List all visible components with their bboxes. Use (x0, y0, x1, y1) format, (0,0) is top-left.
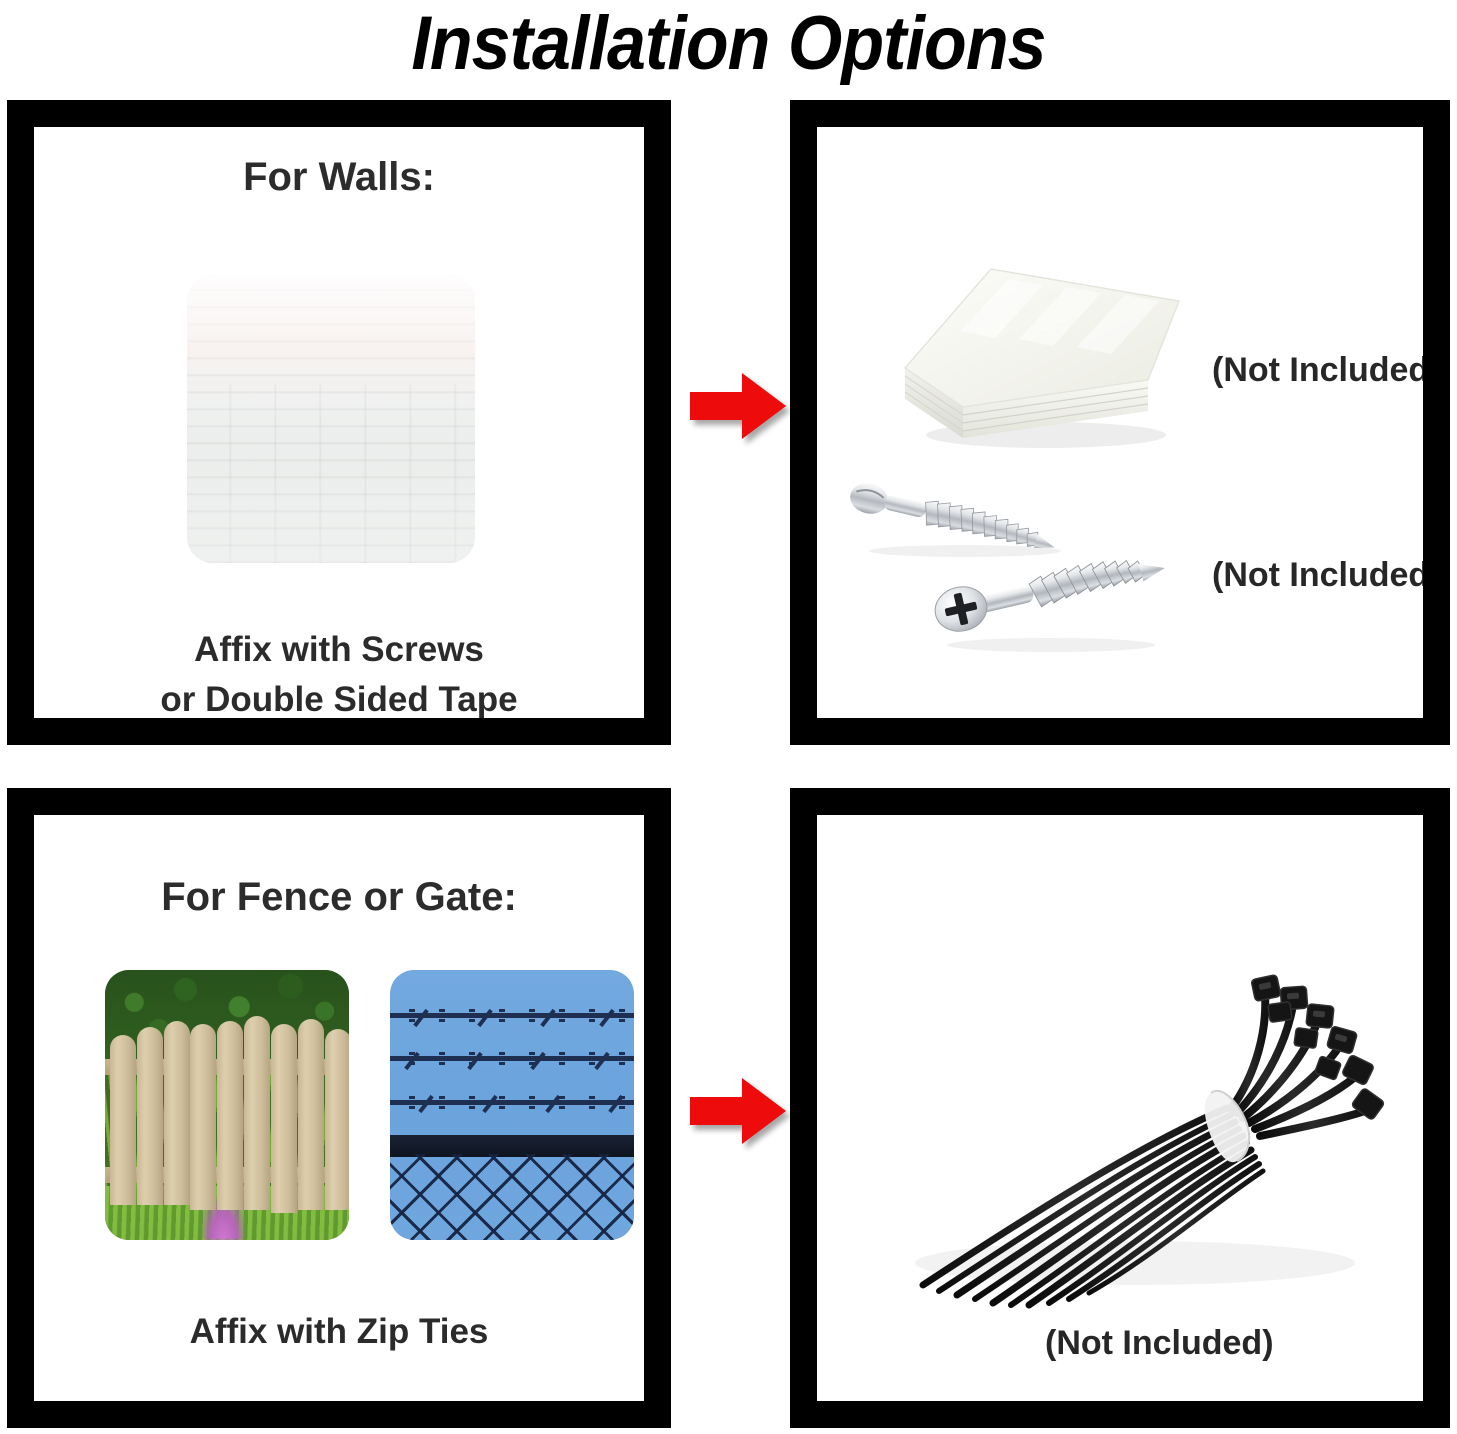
caption-line-1: Affix with Zip Ties (34, 1307, 644, 1357)
panel-for-walls-caption: Affix with Screws or Double Sided Tape (34, 625, 644, 718)
double-sided-tape-squares-stack (891, 255, 1191, 453)
wooden-picket-fence-photo (105, 970, 349, 1240)
red-right-arrow-bottom (690, 1076, 786, 1146)
fence-picket (244, 1016, 270, 1210)
fence-picket (137, 1027, 163, 1205)
fence-picket (325, 1029, 349, 1210)
panel-zip-ties: (Not Included) (790, 788, 1450, 1428)
fence-picket (298, 1019, 324, 1211)
panel-for-fence-or-gate-content: For Fence or Gate: (34, 815, 644, 1401)
fence-picket (164, 1021, 190, 1205)
screws-not-included-label: (Not Included) (1212, 555, 1423, 595)
chain-link-barbed-wire-fence-photo (390, 970, 634, 1240)
panel-for-walls-heading: For Walls: (34, 153, 644, 201)
caption-line-1: Affix with Screws (34, 625, 644, 675)
panel-wall-hardware: (Not Included) (790, 100, 1450, 745)
zipties-not-included-label: (Not Included) (1045, 1323, 1274, 1363)
page-title: Installation Options (58, 0, 1398, 92)
fence-picket (190, 1024, 216, 1210)
panel-for-fence-heading: For Fence or Gate: (34, 873, 644, 921)
brick-highlight-overlay (187, 275, 475, 563)
white-brick-wall-photo (187, 275, 475, 563)
red-right-arrow-top (690, 371, 786, 441)
panel-zip-ties-content: (Not Included) (817, 815, 1423, 1401)
panel-for-walls: For Walls: Affix with Screws or Double S… (7, 100, 671, 745)
panel-for-walls-content: For Walls: Affix with Screws or Double S… (34, 127, 644, 718)
tape-not-included-label: (Not Included) (1212, 350, 1423, 390)
chain-link-mesh (390, 1154, 634, 1240)
panel-for-fence-caption: Affix with Zip Ties (34, 1307, 644, 1357)
fence-picket (110, 1035, 136, 1205)
caption-line-2: or Double Sided Tape (34, 675, 644, 718)
silver-wood-screw-lower (923, 547, 1181, 657)
panel-wall-hardware-content: (Not Included) (817, 127, 1423, 718)
barbed-wire-strand (390, 1056, 634, 1061)
black-zip-ties-bundle (865, 933, 1385, 1313)
fence-picket (217, 1021, 243, 1210)
panel-for-fence-or-gate: For Fence or Gate: (7, 788, 671, 1428)
fence-picket (271, 1024, 297, 1213)
